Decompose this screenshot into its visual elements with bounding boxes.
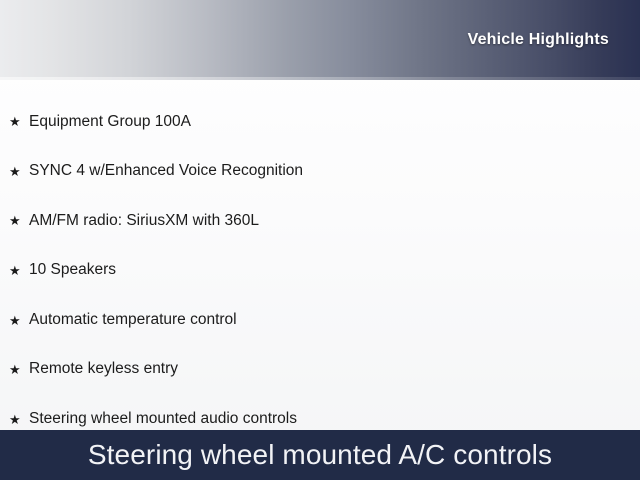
list-item: ★ Equipment Group 100A xyxy=(0,97,640,147)
vehicle-highlights-list: ★ Equipment Group 100A ★ SYNC 4 w/Enhanc… xyxy=(0,97,640,430)
star-bullet-icon: ★ xyxy=(9,363,29,376)
star-bullet-icon: ★ xyxy=(9,264,29,277)
page-title: Vehicle Highlights xyxy=(468,31,609,49)
feature-label: AM/FM radio: SiriusXM with 360L xyxy=(29,212,259,231)
star-bullet-icon: ★ xyxy=(9,115,29,128)
star-bullet-icon: ★ xyxy=(9,314,29,327)
feature-label: SYNC 4 w/Enhanced Voice Recognition xyxy=(29,162,303,181)
list-item: ★ Automatic temperature control xyxy=(0,295,640,345)
feature-label: Steering wheel mounted audio controls xyxy=(29,410,297,429)
star-bullet-icon: ★ xyxy=(9,165,29,178)
list-item: ★ Steering wheel mounted audio controls xyxy=(0,395,640,430)
feature-label: Automatic temperature control xyxy=(29,311,237,330)
header-banner: Vehicle Highlights xyxy=(0,0,640,80)
vehicle-highlights-slide: Vehicle Highlights ★ Equipment Group 100… xyxy=(0,0,640,480)
footer-caption: Steering wheel mounted A/C controls xyxy=(88,441,552,469)
features-body: ★ Equipment Group 100A ★ SYNC 4 w/Enhanc… xyxy=(0,80,640,430)
star-bullet-icon: ★ xyxy=(9,413,29,426)
feature-label: Equipment Group 100A xyxy=(29,113,191,132)
list-item: ★ Remote keyless entry xyxy=(0,345,640,395)
star-bullet-icon: ★ xyxy=(9,214,29,227)
list-item: ★ SYNC 4 w/Enhanced Voice Recognition xyxy=(0,147,640,197)
list-item: ★ 10 Speakers xyxy=(0,246,640,296)
feature-label: Remote keyless entry xyxy=(29,360,178,379)
feature-label: 10 Speakers xyxy=(29,261,116,280)
footer-caption-bar: Steering wheel mounted A/C controls xyxy=(0,430,640,480)
list-item: ★ AM/FM radio: SiriusXM with 360L xyxy=(0,196,640,246)
